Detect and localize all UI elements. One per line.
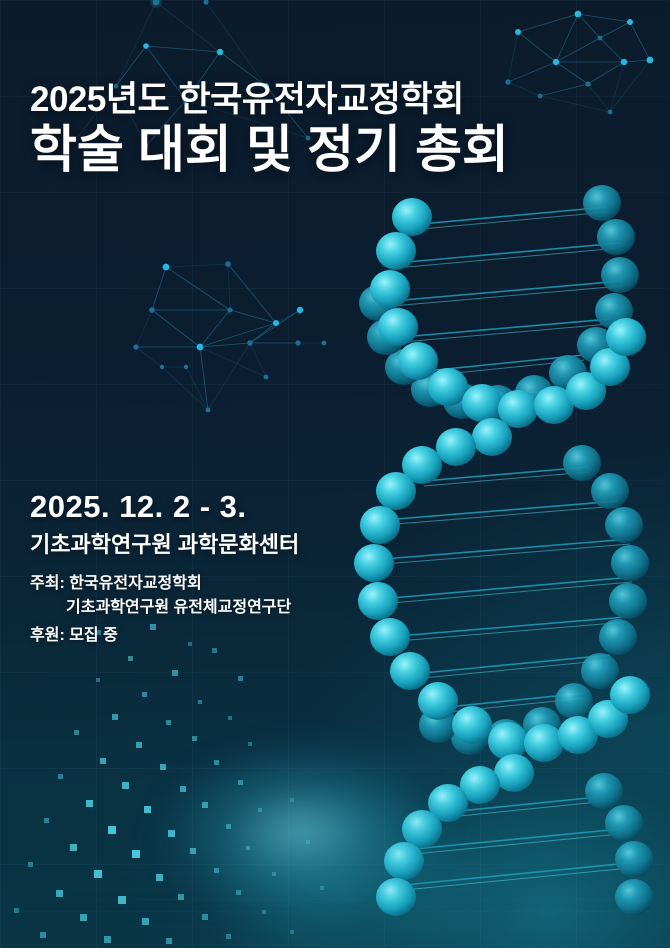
sponsor-line: 후원: 모집 중 bbox=[30, 624, 450, 648]
host-line-2: 기초과학연구원 유전체교정연구단 bbox=[30, 596, 450, 620]
conference-poster: 2025년도 한국유전자교정학회 학술 대회 및 정기 총회 2025. 12.… bbox=[0, 0, 670, 948]
title-line-1: 2025년도 한국유전자교정학회 bbox=[30, 82, 650, 119]
page-title: 2025년도 한국유전자교정학회 학술 대회 및 정기 총회 bbox=[30, 82, 650, 178]
organizer-block: 주최: 한국유전자교정학회 기초과학연구원 유전체교정연구단 후원: 모집 중 bbox=[30, 572, 450, 648]
host-line-1: 주최: 한국유전자교정학회 bbox=[30, 572, 450, 596]
event-date: 2025. 12. 2 - 3. bbox=[30, 488, 450, 525]
title-line-2: 학술 대회 및 정기 총회 bbox=[30, 121, 650, 178]
event-info-block: 2025. 12. 2 - 3. 기초과학연구원 과학문화센터 주최: 한국유전… bbox=[30, 488, 450, 648]
event-venue: 기초과학연구원 과학문화센터 bbox=[30, 531, 450, 559]
